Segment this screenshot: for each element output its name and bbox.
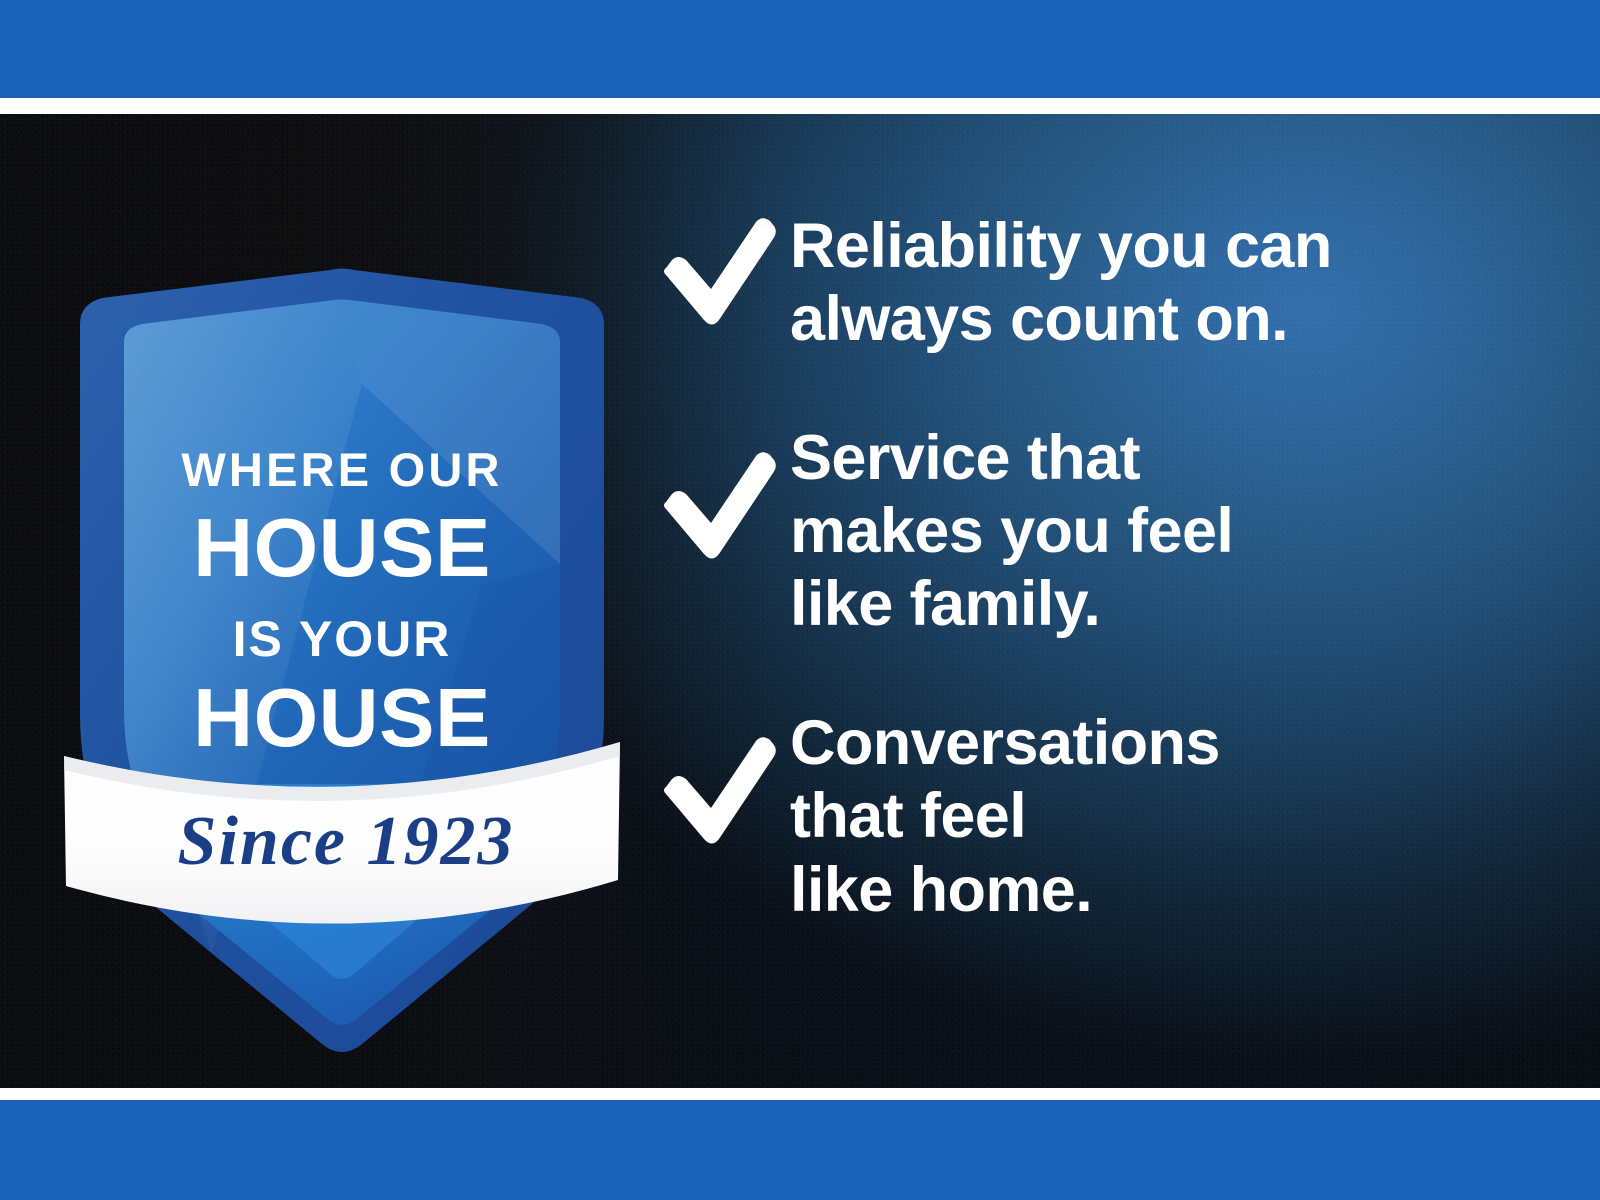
benefit-text: Conversations that feel like home. (790, 707, 1540, 926)
badge-line-3: IS YOUR (233, 611, 452, 667)
benefit-item: Service that makes you feel like family. (660, 422, 1540, 641)
checkmark-icon (660, 216, 790, 328)
badge-line-2: HOUSE (193, 501, 491, 594)
benefits-list: Reliability you can always count on. Ser… (660, 210, 1540, 927)
checkmark-icon (660, 735, 790, 847)
top-brand-bar (0, 0, 1600, 98)
benefit-item: Conversations that feel like home. (660, 707, 1540, 926)
ribbon-label: Since 1923 (178, 803, 515, 880)
benefit-text: Service that makes you feel like family. (790, 422, 1540, 641)
checkmark-icon (660, 450, 790, 562)
benefit-text: Reliability you can always count on. (790, 210, 1540, 356)
poster-stage: WHERE OUR HOUSE IS YOUR HOUSE Since 1923 (0, 114, 1600, 1088)
bottom-brand-bar (0, 1100, 1600, 1200)
promo-poster: WHERE OUR HOUSE IS YOUR HOUSE Since 1923 (0, 0, 1600, 1200)
benefit-item: Reliability you can always count on. (660, 210, 1540, 356)
shield-emblem: WHERE OUR HOUSE IS YOUR HOUSE Since 1923 (62, 264, 622, 1074)
badge-line-1: WHERE OUR (181, 443, 502, 496)
badge-line-4: HOUSE (193, 671, 491, 764)
